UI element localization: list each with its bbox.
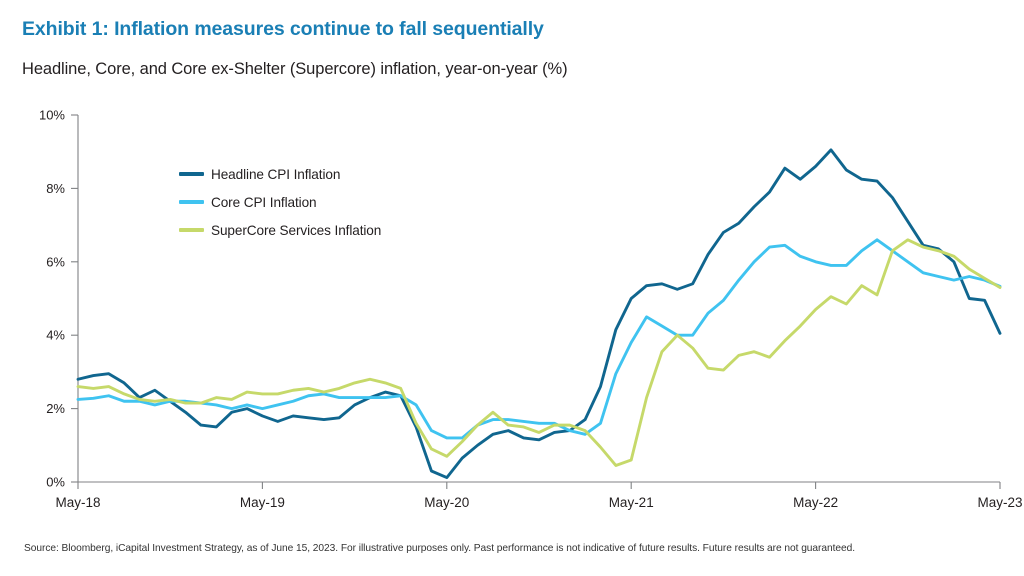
legend-item-core[interactable]: Core CPI Inflation <box>179 188 381 216</box>
line-chart-svg: 0%2%4%6%8%10% May-18May-19May-20May-21Ma… <box>0 0 1024 576</box>
y-axis: 0%2%4%6%8%10% <box>39 108 78 490</box>
legend-item-label: Headline CPI Inflation <box>211 167 340 182</box>
y-axis-tick-label: 4% <box>46 328 65 343</box>
y-axis-tick-label: 0% <box>46 475 65 490</box>
legend-item-label: Core CPI Inflation <box>211 195 317 210</box>
legend-swatch-icon <box>179 172 204 175</box>
y-axis-tick-label: 8% <box>46 181 65 196</box>
x-axis: May-18May-19May-20May-21May-22May-23 <box>55 482 1022 510</box>
chart-legend: Headline CPI InflationCore CPI Inflation… <box>179 160 381 244</box>
legend-item-headline[interactable]: Headline CPI Inflation <box>179 160 381 188</box>
legend-item-supercore[interactable]: SuperCore Services Inflation <box>179 216 381 244</box>
x-axis-tick-label: May-23 <box>977 495 1022 510</box>
x-axis-tick-label: May-21 <box>609 495 654 510</box>
series-line <box>78 240 1000 438</box>
source-note: Source: Bloomberg, iCapital Investment S… <box>24 543 855 554</box>
legend-swatch-icon <box>179 200 204 203</box>
y-axis-tick-label: 2% <box>46 401 65 416</box>
x-axis-tick-label: May-22 <box>793 495 838 510</box>
y-axis-tick-label: 10% <box>39 108 65 123</box>
legend-swatch-icon <box>179 228 204 231</box>
chart-plot-area: 0%2%4%6%8%10% May-18May-19May-20May-21Ma… <box>0 0 1024 576</box>
y-axis-tick-label: 6% <box>46 254 65 269</box>
x-axis-tick-label: May-19 <box>240 495 285 510</box>
legend-item-label: SuperCore Services Inflation <box>211 223 381 238</box>
chart-page: Exhibit 1: Inflation measures continue t… <box>0 0 1024 576</box>
series-line <box>78 240 1000 466</box>
x-axis-tick-label: May-20 <box>424 495 469 510</box>
x-axis-tick-label: May-18 <box>55 495 100 510</box>
